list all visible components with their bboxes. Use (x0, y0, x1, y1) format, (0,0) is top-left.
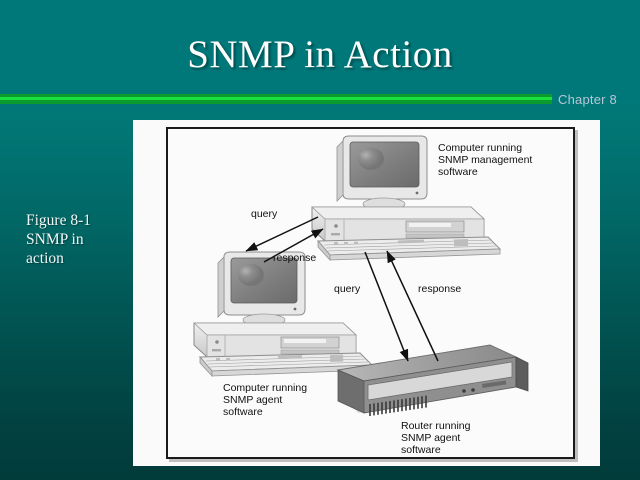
figure-panel: Computer running SNMP management softwar… (133, 120, 600, 466)
manager-label-line-3: software (438, 166, 478, 178)
figure-caption-line-3: action (26, 249, 130, 268)
arrow-label-query-computer: query (251, 208, 278, 220)
rule-band-bottom (0, 100, 552, 104)
agent-computer-label-line-3: software (223, 406, 263, 418)
router-label-line-1: Router running (401, 420, 471, 432)
figure-caption: Figure 8-1 SNMP in action (26, 211, 130, 268)
title-divider-rule (0, 94, 552, 105)
arrow-label-response-router: response (418, 283, 461, 295)
agent-computer-label-line-1: Computer running (223, 382, 307, 394)
arrow-label-query-router: query (334, 283, 361, 295)
agent-computer-label-line-2: SNMP agent (223, 394, 282, 406)
router-label-line-2: SNMP agent (401, 432, 460, 444)
page-title: SNMP in Action (0, 32, 640, 78)
router-label-line-3: software (401, 444, 441, 456)
manager-label-line-2: SNMP management (438, 154, 532, 166)
snmp-diagram: Computer running SNMP management softwar… (168, 129, 573, 457)
figure-frame: Computer running SNMP management softwar… (166, 127, 575, 459)
chapter-label: Chapter 8 (558, 92, 617, 107)
arrow-label-response-computer: response (273, 252, 316, 264)
slide: SNMP in Action Chapter 8 Figure 8-1 SNMP… (0, 0, 640, 480)
manager-label-line-1: Computer running (438, 142, 522, 154)
figure-caption-line-1: Figure 8-1 (26, 211, 130, 230)
figure-caption-line-2: SNMP in (26, 230, 130, 249)
